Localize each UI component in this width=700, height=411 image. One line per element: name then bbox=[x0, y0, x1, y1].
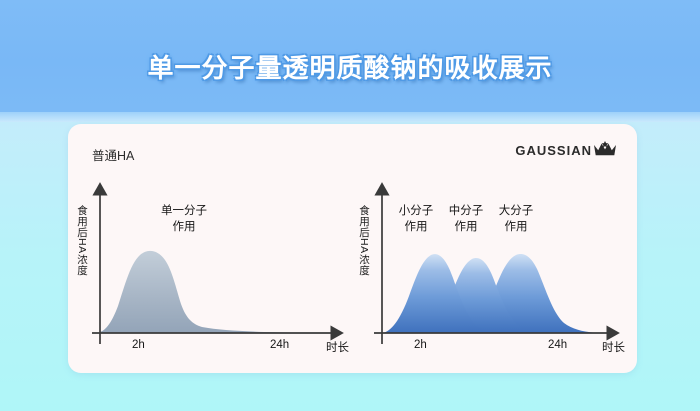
left-x-axis-title: 时长 bbox=[326, 339, 349, 355]
chart-card: 普通HA 食用后HA浓度 单一分子 作用 bbox=[68, 124, 637, 373]
left-xtick-24h: 24h bbox=[270, 339, 289, 351]
poster-canvas: 单一分子量透明质酸钠的吸收展示 普通HA 食用后HA浓度 单一分子 作用 bbox=[0, 0, 700, 411]
right-x-axis-title: 时长 bbox=[602, 339, 625, 355]
right-xtick-24h: 24h bbox=[548, 339, 567, 351]
right-chart-panel: GAUSSIAN 食用后HA浓度 小分子 作用 中分子 作用 大分子 作用 bbox=[358, 124, 637, 373]
left-xtick-2h: 2h bbox=[132, 339, 145, 351]
left-chart-svg bbox=[68, 124, 368, 373]
page-title: 单一分子量透明质酸钠的吸收展示 bbox=[0, 48, 700, 85]
right-chart-svg bbox=[358, 124, 637, 373]
right-xtick-2h: 2h bbox=[414, 339, 427, 351]
left-chart-panel: 普通HA 食用后HA浓度 单一分子 作用 bbox=[68, 124, 368, 373]
banner-fade-edge bbox=[0, 112, 700, 122]
left-gaussian-curve bbox=[100, 251, 336, 333]
